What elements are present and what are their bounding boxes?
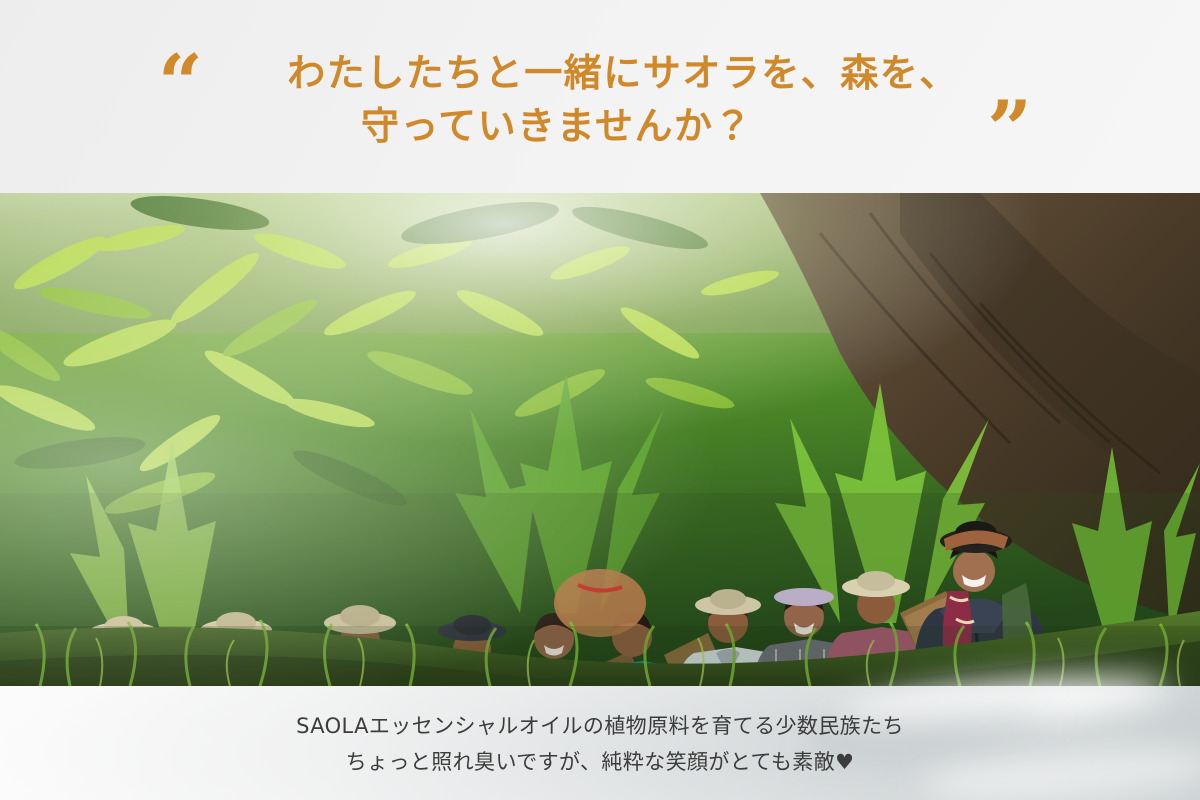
caption-line-2: ちょっと照れ臭いですが、純粋な笑顔がとても素敵♥: [346, 746, 855, 776]
headline-section: “ ” わたしたちと一緒にサオラを、森を、 守っていきませんか？: [0, 0, 1200, 193]
hero-photo: [0, 193, 1200, 686]
headline-line-2: 守っていきませんか？: [150, 100, 1050, 152]
headline-text: わたしたちと一緒にサオラを、森を、 守っていきませんか？: [150, 47, 1050, 152]
close-quote-icon: ”: [987, 91, 1032, 169]
open-quote-icon: “: [158, 45, 203, 123]
promo-slide: “ ” わたしたちと一緒にサオラを、森を、 守っていきませんか？: [0, 0, 1200, 800]
caption-text: SAOLAエッセンシャルオイルの植物原料を育てる少数民族たち ちょっと照れ臭いで…: [0, 686, 1200, 800]
headline-inner: “ ” わたしたちと一緒にサオラを、森を、 守っていきませんか？: [150, 41, 1050, 152]
headline-line-1: わたしたちと一緒にサオラを、森を、: [150, 47, 1050, 99]
caption-line-1: SAOLAエッセンシャルオイルの植物原料を育てる少数民族たち: [296, 710, 904, 740]
caption-band: SAOLAエッセンシャルオイルの植物原料を育てる少数民族たち ちょっと照れ臭いで…: [0, 686, 1200, 800]
